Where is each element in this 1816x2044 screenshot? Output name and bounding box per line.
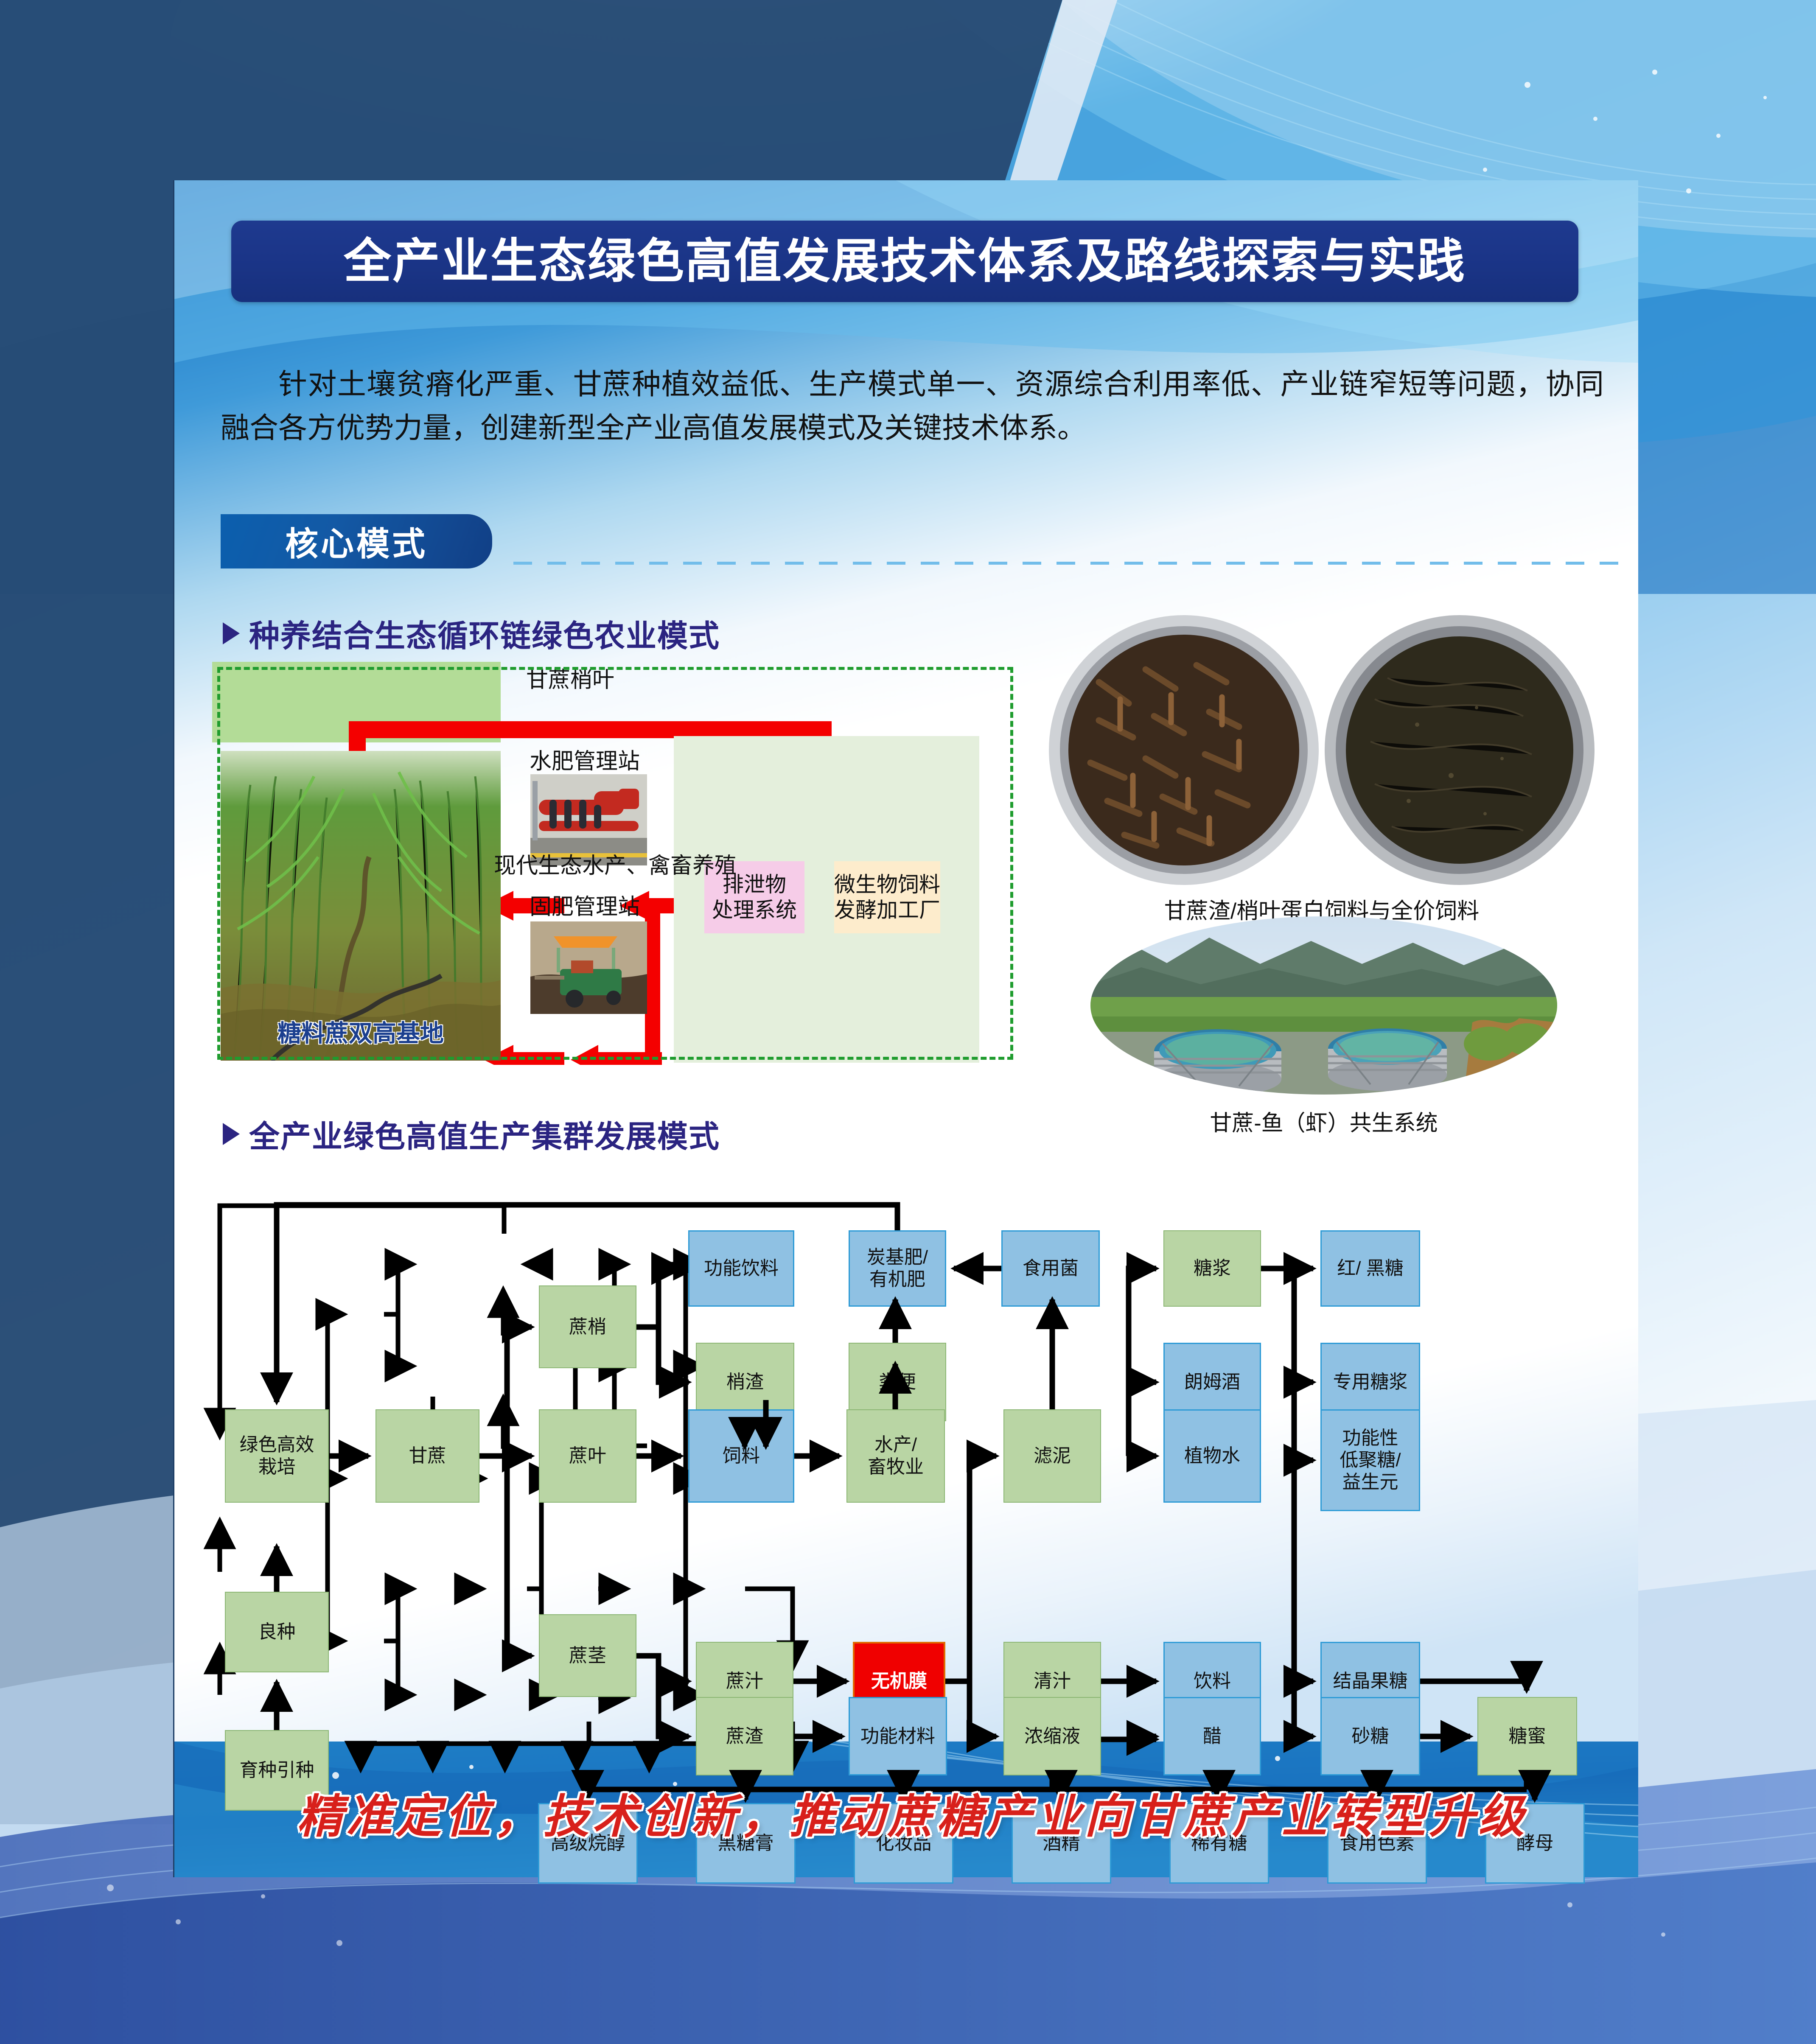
flow-node-sugarcane[interactable]: 甘蔗 xyxy=(376,1409,479,1503)
flow-node-concentrate[interactable]: 浓缩液 xyxy=(1003,1697,1101,1775)
flow-node-carbon-fert-l1: 炭基肥/ xyxy=(867,1247,928,1268)
flow-node-molasses[interactable]: 糖蜜 xyxy=(1477,1697,1577,1775)
photo-pellet-feed xyxy=(1048,614,1320,886)
flow-node-filter-mud[interactable]: 滤泥 xyxy=(1003,1409,1101,1503)
subsection-heading-1: 种养结合生态循环链绿色农业模式 xyxy=(223,611,720,655)
flow-node-oligo-l3: 益生元 xyxy=(1342,1472,1398,1492)
photo-powder-feed xyxy=(1324,614,1595,886)
eco-cycle-diagram: 甘蔗梢叶 xyxy=(212,662,1018,1065)
flow-node-feed[interactable]: 饲料 xyxy=(688,1409,794,1503)
subsection-heading-2: 全产业绿色高值生产集群发展模式 xyxy=(223,1112,720,1156)
photo-cane-fish-symbiosis xyxy=(1090,916,1557,1095)
flow-node-aqua-livestock[interactable]: 水产/畜牧业 xyxy=(846,1409,945,1503)
flow-node-vinegar[interactable]: 醋 xyxy=(1163,1697,1261,1775)
intro-paragraph: 针对土壤贫瘠化严重、甘蔗种植效益低、生产模式单一、资源综合利用率低、产业链窄短等… xyxy=(221,363,1604,451)
eco-node-modern-aquaculture: 现代生态水产、禽畜养殖 xyxy=(212,662,501,742)
flow-node-edible-fungi[interactable]: 食用菌 xyxy=(1001,1230,1100,1307)
flow-node-syrup[interactable]: 糖浆 xyxy=(1163,1230,1261,1307)
flow-node-bagasse[interactable]: 蔗渣 xyxy=(696,1697,793,1775)
flow-node-carbon-fert-l2: 有机肥 xyxy=(869,1269,925,1290)
flow-node-plant-water[interactable]: 植物水 xyxy=(1163,1409,1261,1503)
flow-node-oligo-l1: 功能性 xyxy=(1342,1428,1398,1448)
flow-node-cane-tip[interactable]: 蔗梢 xyxy=(539,1285,636,1368)
flow-node-green-cultivation[interactable]: 绿色高效栽培 xyxy=(225,1409,329,1503)
flow-node-functional-material[interactable]: 功能材料 xyxy=(849,1697,947,1775)
flow-node-aqua-l1: 水产/ xyxy=(874,1434,917,1455)
flow-node-cane-leaf[interactable]: 蔗叶 xyxy=(539,1409,636,1503)
section-badge-label: 核心模式 xyxy=(285,518,428,565)
flow-node-good-variety[interactable]: 良种 xyxy=(225,1592,329,1672)
subsection-label-2: 全产业绿色高值生产集群发展模式 xyxy=(249,1112,720,1156)
section-divider-dashed xyxy=(513,562,1621,565)
triangle-bullet-icon-2 xyxy=(223,1123,240,1145)
flow-node-granulated-sugar[interactable]: 砂糖 xyxy=(1320,1697,1420,1775)
flow-node-oligo-l2: 低聚糖/ xyxy=(1340,1450,1401,1470)
caption-cane-fish: 甘蔗-鱼（虾）共生系统 xyxy=(1090,1105,1557,1137)
flow-node-carbon-organic-fertilizer[interactable]: 炭基肥/有机肥 xyxy=(849,1230,946,1307)
flow-node-functional-oligosaccharide[interactable]: 功能性低聚糖/益生元 xyxy=(1320,1409,1420,1511)
triangle-bullet-icon xyxy=(223,622,240,644)
eco-node-farming-label: 现代生态水产、禽畜养殖 xyxy=(217,667,1013,1060)
flow-node-functional-drink[interactable]: 功能饮料 xyxy=(688,1230,794,1307)
page-title: 全产业生态绿色高值发展技术体系及路线探索与实践 xyxy=(344,238,1466,285)
bottom-slogan: 精准定位，技术创新，推动蔗糖产业向甘蔗产业转型升级 xyxy=(221,1780,1604,1846)
poster-title-bar: 全产业生态绿色高值发展技术体系及路线探索与实践 xyxy=(231,221,1578,302)
subsection-label-1: 种养结合生态循环链绿色农业模式 xyxy=(249,611,720,655)
flow-node-aqua-l2: 畜牧业 xyxy=(868,1456,924,1477)
section-header: 核心模式 xyxy=(221,514,1621,571)
flow-node-green-cultivation-l2: 栽培 xyxy=(258,1456,296,1477)
flow-node-cane-stalk[interactable]: 蔗茎 xyxy=(539,1614,636,1697)
section-badge: 核心模式 xyxy=(221,514,492,568)
flow-node-green-cultivation-l1: 绿色高效 xyxy=(240,1434,314,1455)
flow-node-red-black-sugar[interactable]: 红/ 黑糖 xyxy=(1320,1230,1420,1307)
